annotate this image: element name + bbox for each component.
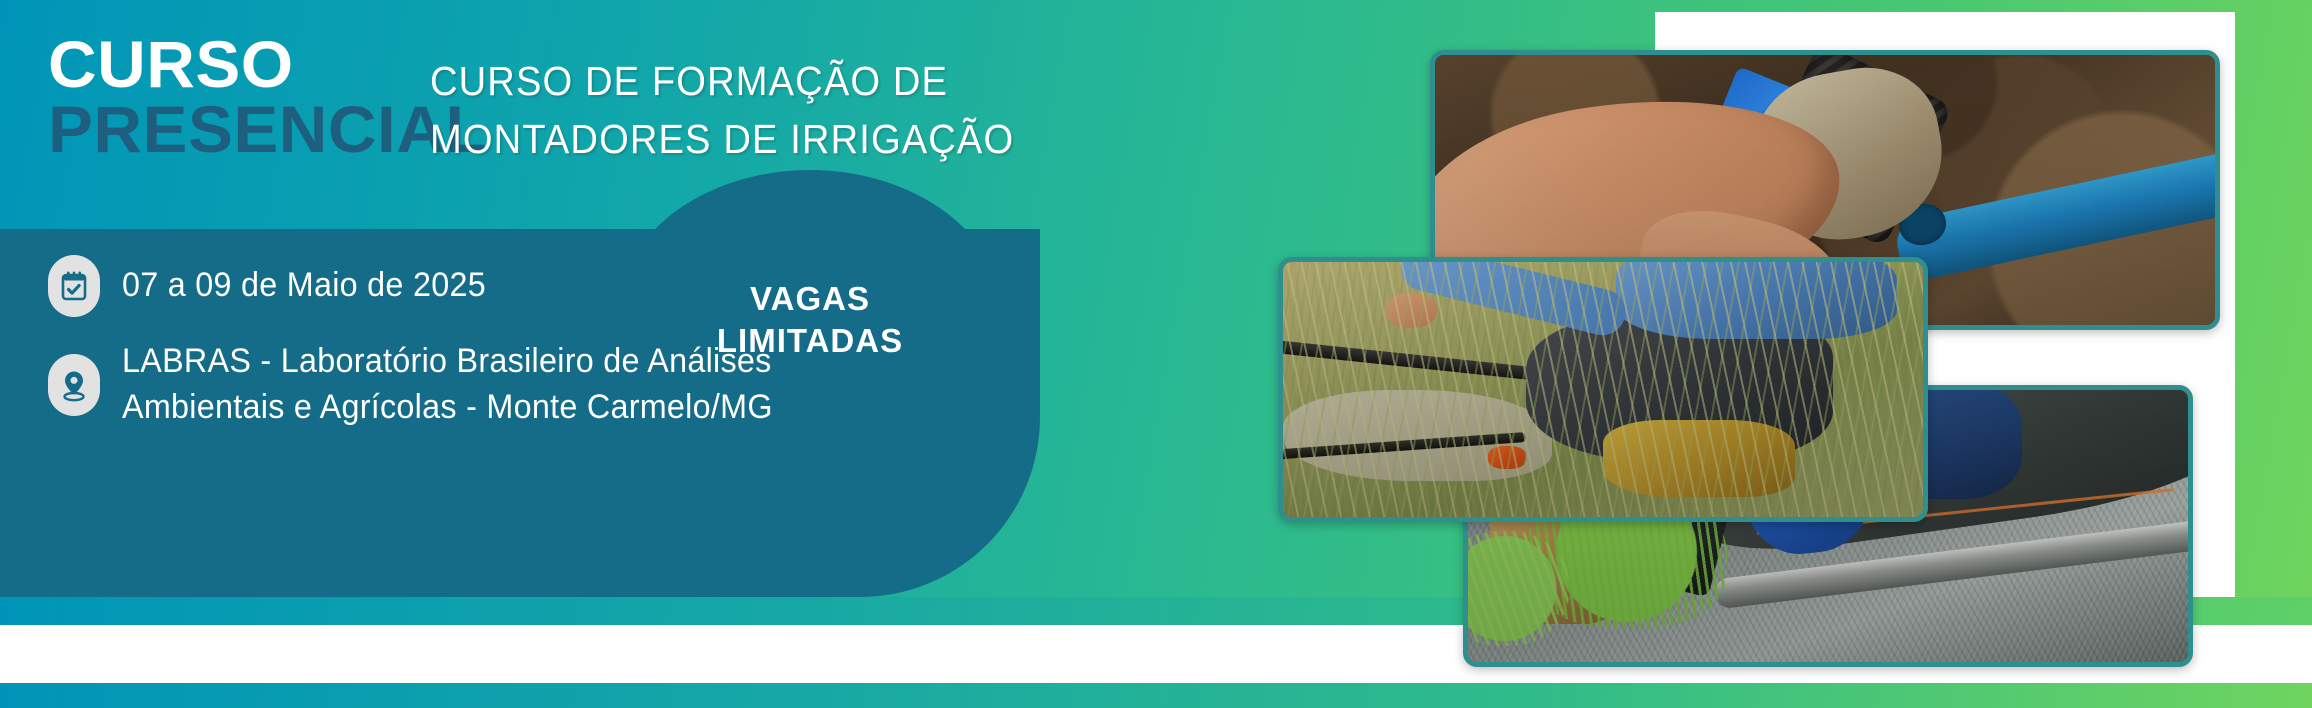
info-row-location: LABRAS - Laboratório Brasileiro de Análi…	[48, 339, 998, 430]
map-pin-icon	[48, 354, 100, 416]
course-date: 07 a 09 de Maio de 2025	[122, 263, 486, 309]
info-panel-content: 07 a 09 de Maio de 2025 LABRAS - Laborat…	[48, 255, 998, 452]
eyebrow-line-curso: CURSO	[48, 34, 487, 95]
eyebrow-line-presencial: PRESENCIAL	[48, 99, 487, 160]
info-row-date: 07 a 09 de Maio de 2025	[48, 255, 998, 317]
course-location: LABRAS - Laboratório Brasileiro de Análi…	[122, 339, 773, 430]
course-title: CURSO DE FORMAÇÃO DE MONTADORES DE IRRIG…	[430, 52, 1014, 168]
photo-worker-kneeling-drip-line-grass	[1278, 257, 1928, 522]
bottom-gradient-strip-lower	[0, 683, 2312, 708]
calendar-check-icon	[48, 255, 100, 317]
course-promo-banner: CURSO PRESENCIAL CURSO DE FORMAÇÃO DE MO…	[0, 0, 2312, 708]
banner-eyebrow: CURSO PRESENCIAL	[48, 34, 478, 159]
